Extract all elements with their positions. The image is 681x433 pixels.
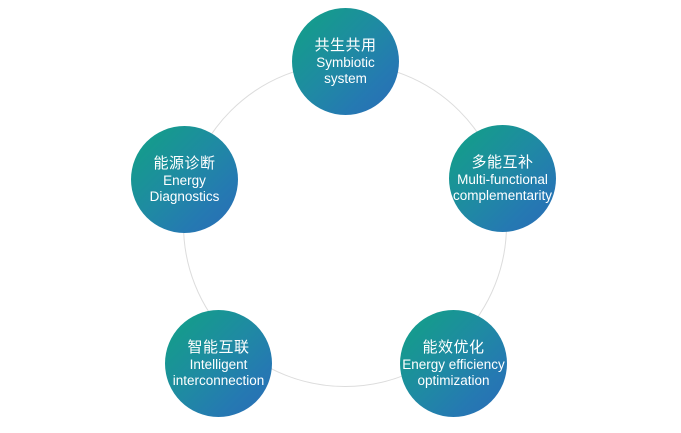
node-energy-efficiency-label-cn: 能效优化 [422, 339, 484, 357]
node-intelligent-interconnection-label-en-1: Intelligent [190, 357, 248, 373]
node-energy-diagnostics-label-en-2: Diagnostics [150, 189, 220, 205]
node-symbiotic-label-en-1: Symbiotic [316, 55, 375, 71]
node-energy-diagnostics[interactable]: 能源诊断 Energy Diagnostics [131, 126, 238, 233]
node-multifunctional-label-en-1: Multi-functional [457, 172, 548, 188]
diagram-canvas: 共生共用 Symbiotic system 多能互补 Multi-functio… [0, 0, 681, 433]
node-multifunctional-label-en-2: complementarity [453, 188, 552, 204]
node-intelligent-interconnection-label-en-2: interconnection [173, 373, 265, 389]
node-symbiotic-label-cn: 共生共用 [314, 37, 376, 55]
node-energy-diagnostics-label-en-1: Energy [163, 173, 206, 189]
node-symbiotic[interactable]: 共生共用 Symbiotic system [292, 8, 399, 115]
node-multifunctional-label-cn: 多能互补 [471, 154, 533, 172]
node-symbiotic-label-en-2: system [324, 71, 367, 87]
node-energy-diagnostics-label-cn: 能源诊断 [153, 155, 215, 173]
node-energy-efficiency-label-en-2: optimization [417, 373, 489, 389]
node-intelligent-interconnection[interactable]: 智能互联 Intelligent interconnection [165, 310, 272, 417]
node-energy-efficiency[interactable]: 能效优化 Energy efficiency optimization [400, 310, 507, 417]
node-energy-efficiency-label-en-1: Energy efficiency [402, 357, 505, 373]
node-intelligent-interconnection-label-cn: 智能互联 [187, 339, 249, 357]
node-multifunctional[interactable]: 多能互补 Multi-functional complementarity [449, 125, 556, 232]
